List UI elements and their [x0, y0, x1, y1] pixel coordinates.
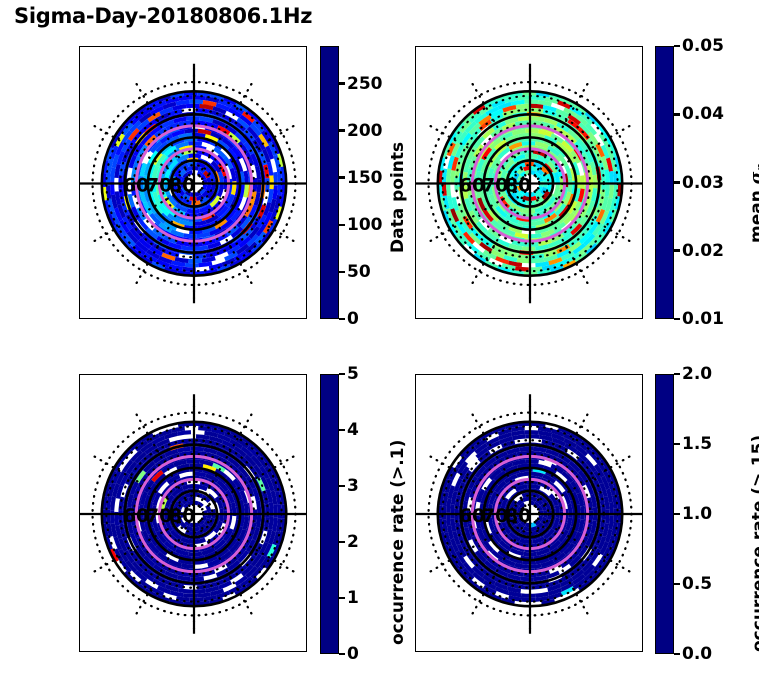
figure-canvas: Sigma-Day-20180806.1Hz 607080 607080 607… [0, 0, 759, 674]
colorbar-tick-label: 3 [339, 476, 359, 496]
tick-text: 1.5 [682, 434, 712, 454]
colorbar-tick-label: 0 [339, 644, 359, 664]
colorbar-tick-label: 1.5 [674, 434, 712, 454]
polar-map-canvas: 607080 [80, 375, 307, 652]
colorbar-tick-label: 50 [339, 262, 371, 282]
polar-panel-occurrence-rate-015: 607080 [415, 374, 643, 652]
tick-text: 200 [347, 121, 383, 141]
tick-mark [674, 181, 680, 184]
colorbar-occurrence-rate-015-label: occurrence rate (>.15) [749, 435, 759, 652]
tick-mark [674, 249, 680, 252]
colorbar-mean-sigma-phi-label: mean σφ [747, 162, 759, 243]
tick-text: 150 [347, 168, 383, 188]
tick-text: 0.02 [682, 241, 724, 261]
colorbar-tick-label: 250 [339, 74, 383, 94]
tick-text: 0.0 [682, 644, 712, 664]
colorbar-mean-sigma-phi [655, 46, 674, 319]
radial-tick-labels: 607080 [459, 175, 532, 197]
radial-tick-label: 80 [169, 505, 195, 527]
tick-text: 3 [347, 476, 359, 496]
tick-text: 0.05 [682, 36, 724, 56]
tick-text: 0.03 [682, 173, 724, 193]
tick-text: 250 [347, 74, 383, 94]
colorbar-tick-label: 0.02 [674, 241, 724, 261]
tick-mark [339, 541, 345, 544]
tick-text: 0.04 [682, 104, 724, 124]
tick-mark [339, 429, 345, 432]
polar-map-canvas: 607080 [416, 375, 643, 652]
colorbar-occurrence-rate-01 [320, 374, 339, 654]
polar-map-canvas: 607080 [416, 47, 643, 319]
radial-tick-labels: 607080 [123, 175, 196, 197]
colorbar-tick-label: 0.01 [674, 309, 724, 329]
colorbar-tick-label: 2 [339, 532, 359, 552]
colorbar-tick-label: 2.0 [674, 364, 712, 384]
tick-mark [674, 113, 680, 116]
radial-tick-labels: 607080 [459, 505, 532, 527]
colorbar-tick-label: 0.03 [674, 173, 724, 193]
colorbar-tick-label: 1.0 [674, 504, 712, 524]
colorbar-tick-label: 0 [339, 309, 359, 329]
colorbar-data-points-label: Data points [388, 142, 408, 253]
colorbar-tick-label: 150 [339, 168, 383, 188]
tick-mark [339, 653, 345, 656]
tick-text: 4 [347, 420, 359, 440]
colorbar-tick-label: 1 [339, 588, 359, 608]
colorbar-tick-label: 0.05 [674, 36, 724, 56]
tick-text: 1 [347, 588, 359, 608]
tick-mark [339, 224, 345, 227]
tick-mark [339, 82, 345, 85]
tick-mark [674, 513, 680, 516]
tick-mark [339, 129, 345, 132]
tick-text: 2.0 [682, 364, 712, 384]
tick-text: 1.0 [682, 504, 712, 524]
radial-tick-labels: 607080 [123, 505, 196, 527]
tick-mark [674, 318, 680, 321]
tick-mark [339, 485, 345, 488]
colorbar-tick-label: 0.04 [674, 104, 724, 124]
tick-text: 2 [347, 532, 359, 552]
colorbar-tick-label: 0.5 [674, 574, 712, 594]
colorbar-tick-label: 4 [339, 420, 359, 440]
tick-mark [339, 318, 345, 321]
tick-mark [674, 443, 680, 446]
tick-mark [339, 597, 345, 600]
tick-text: 50 [347, 262, 371, 282]
tick-text: 5 [347, 364, 359, 384]
colorbar-tick-label: 0.0 [674, 644, 712, 664]
radial-tick-label: 80 [505, 175, 531, 197]
tick-mark [674, 583, 680, 586]
polar-panel-data-points: 607080 [79, 46, 307, 319]
tick-text: 0 [347, 309, 359, 329]
radial-tick-label: 80 [169, 175, 195, 197]
colorbar-tick-label: 100 [339, 215, 383, 235]
colorbar-tick-label: 200 [339, 121, 383, 141]
polar-panel-mean-sigma-phi: 607080 [415, 46, 643, 319]
tick-mark [339, 373, 345, 376]
tick-mark [674, 653, 680, 656]
polar-panel-occurrence-rate-01: 607080 [79, 374, 307, 652]
tick-text: 0.01 [682, 309, 724, 329]
tick-mark [339, 271, 345, 274]
radial-tick-label: 80 [505, 505, 531, 527]
tick-mark [339, 176, 345, 179]
colorbar-data-points [320, 46, 339, 319]
figure-title: Sigma-Day-20180806.1Hz [14, 4, 312, 28]
polar-map-canvas: 607080 [80, 47, 307, 319]
tick-text: 0.5 [682, 574, 712, 594]
tick-text: 0 [347, 644, 359, 664]
tick-text: 100 [347, 215, 383, 235]
tick-mark [674, 373, 680, 376]
colorbar-occurrence-rate-01-label: occurrence rate (>.1) [388, 440, 408, 645]
tick-mark [674, 45, 680, 48]
colorbar-tick-label: 5 [339, 364, 359, 384]
colorbar-occurrence-rate-015 [655, 374, 674, 654]
